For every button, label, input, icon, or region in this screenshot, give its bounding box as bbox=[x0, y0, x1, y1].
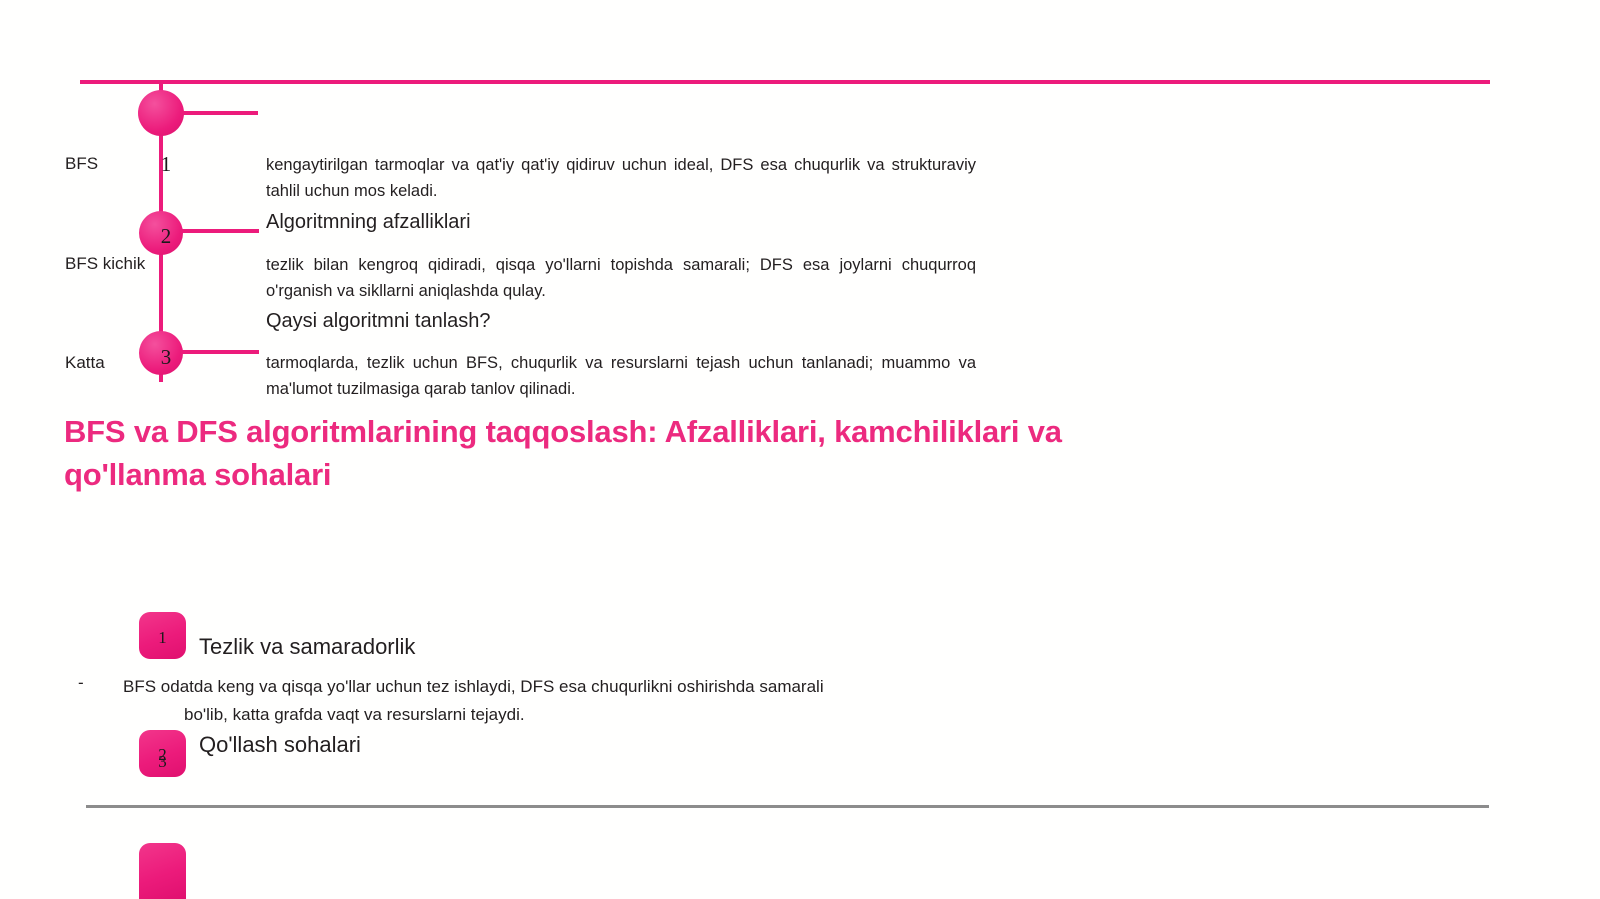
timeline-body-3: tarmoqlarda, tezlik uchun BFS, chuqurlik… bbox=[266, 350, 976, 402]
bottom-divider bbox=[86, 805, 1489, 808]
section-badge-number-3: 3 bbox=[139, 752, 186, 772]
timeline-node-number-2: 2 bbox=[155, 224, 177, 249]
section-heading-1: Tezlik va samaradorlik bbox=[199, 634, 415, 660]
timeline-start-connector bbox=[180, 111, 258, 115]
timeline-connector-3 bbox=[181, 350, 259, 354]
timeline-body-1: kengaytirilgan tarmoqlar va qat'iy qat'i… bbox=[266, 152, 976, 204]
slide-canvas: 1 BFS kengaytirilgan tarmoqlar va qat'iy… bbox=[0, 0, 1600, 899]
section-badge-3-icon bbox=[139, 843, 186, 899]
timeline-label-2: BFS kichik bbox=[65, 252, 157, 276]
page-title: BFS va DFS algoritmlarining taqqoslash: … bbox=[64, 410, 1204, 496]
bullet-text-line-1: BFS odatda keng va qisqa yo'llar uchun t… bbox=[123, 673, 824, 700]
top-accent-rule bbox=[80, 80, 1490, 84]
timeline-heading-1: Algoritmning afzalliklari bbox=[266, 211, 471, 234]
timeline-body-2: tezlik bilan kengroq qidiradi, qisqa yo'… bbox=[266, 252, 976, 304]
bullet-text-line-2: bo'lib, katta grafda vaqt va resurslarni… bbox=[184, 701, 525, 728]
timeline-start-dot-icon bbox=[138, 90, 184, 136]
timeline-connector-2 bbox=[181, 229, 259, 233]
section-heading-2: Qo'llash sohalari bbox=[199, 732, 361, 758]
section-badge-number-1: 1 bbox=[139, 628, 186, 648]
timeline-node-number-1: 1 bbox=[155, 152, 177, 177]
timeline-label-1: BFS bbox=[65, 152, 157, 176]
timeline-node-number-3: 3 bbox=[155, 345, 177, 370]
timeline-label-3: Katta bbox=[65, 351, 157, 375]
bullet-dash-marker: - bbox=[78, 673, 84, 693]
timeline-heading-2: Qaysi algoritmni tanlash? bbox=[266, 310, 491, 333]
